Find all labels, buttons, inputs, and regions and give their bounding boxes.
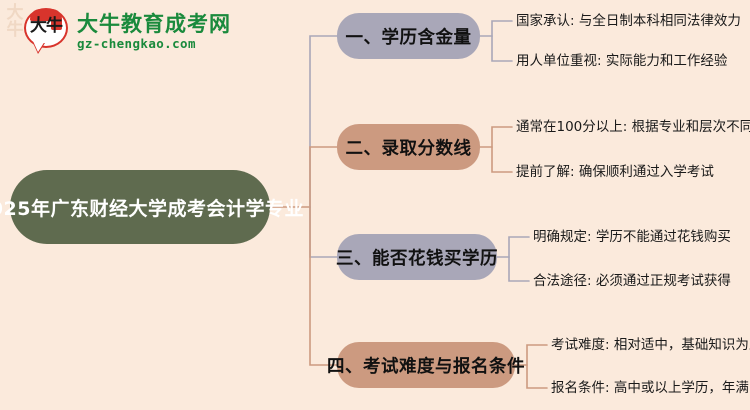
leaf-item-3-1[interactable]: 明确规定: 学历不能通过花钱购买 — [533, 228, 731, 246]
leaf-item-1-2[interactable]: 用人单位重视: 实际能力和工作经验 — [516, 52, 727, 70]
leaf-item-4-1[interactable]: 考试难度: 相对适中，基础知识为主 — [551, 336, 750, 354]
branch-label-4: 四、考试难度与报名条件 — [327, 353, 525, 378]
wire-b2-leaf-1 — [492, 127, 512, 147]
branch-node-2[interactable]: 二、录取分数线 — [337, 124, 480, 170]
wire-spine-branch-2 — [310, 147, 337, 207]
mindmap-root-node[interactable]: 2025年广东财经大学成考会计学专业 — [10, 170, 270, 244]
wire-b3-leaf-2 — [509, 257, 529, 281]
mindmap-canvas: 大牛 大牛 大牛教育成考网 gz-chengkao.com — [0, 0, 750, 410]
leaf-item-4-2[interactable]: 报名条件: 高中或以上学历，年满18岁 — [551, 379, 750, 397]
branch-node-1[interactable]: 一、学历含金量 — [337, 13, 480, 59]
wire-b3-leaf-1 — [509, 237, 529, 257]
wire-spine-branch-1 — [310, 36, 337, 207]
wire-b1-leaf-2 — [492, 36, 512, 61]
root-label: 2025年广东财经大学成考会计学专业 — [0, 194, 304, 221]
wire-b1-leaf-1 — [492, 21, 512, 36]
wire-spine-branch-4 — [310, 207, 337, 365]
branch-node-3[interactable]: 三、能否花钱买学历 — [337, 234, 497, 280]
wire-b4-leaf-1 — [527, 345, 547, 365]
wire-spine-branch-3 — [310, 207, 337, 257]
branch-label-1: 一、学历含金量 — [346, 24, 472, 49]
leaf-item-3-2[interactable]: 合法途径: 必须通过正规考试获得 — [533, 272, 731, 290]
wire-b2-leaf-2 — [492, 147, 512, 172]
branch-label-3: 三、能否花钱买学历 — [336, 245, 498, 270]
leaf-item-1-1[interactable]: 国家承认: 与全日制本科相同法律效力 — [516, 12, 741, 30]
branch-node-4[interactable]: 四、考试难度与报名条件 — [337, 342, 515, 388]
wire-b4-leaf-2 — [527, 365, 547, 388]
branch-label-2: 二、录取分数线 — [346, 135, 472, 160]
leaf-item-2-2[interactable]: 提前了解: 确保顺利通过入学考试 — [516, 163, 714, 181]
leaf-item-2-1[interactable]: 通常在100分以上: 根据专业和层次不同 — [516, 118, 750, 136]
